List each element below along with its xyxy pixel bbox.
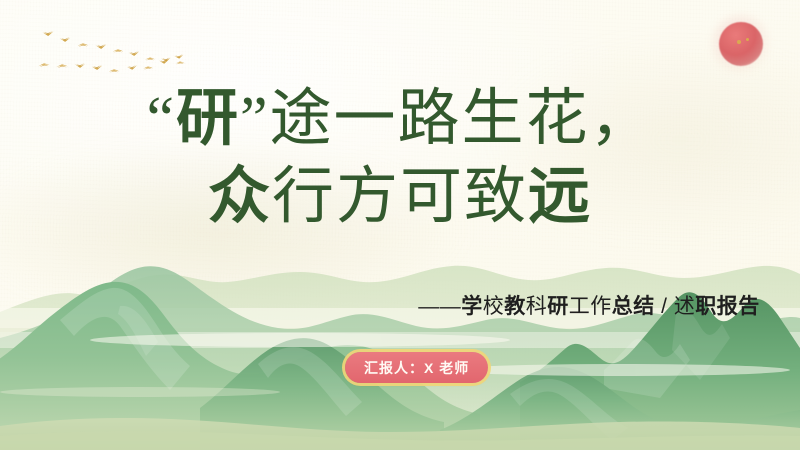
subtitle-seg-xue: 学: [461, 295, 483, 318]
title-quote-open: “: [146, 85, 176, 153]
subtitle-seg-ke: 科: [526, 295, 548, 318]
sun-icon: [719, 22, 763, 66]
mountain-landscape: [0, 220, 800, 450]
title-line-2-mid: 行方可致: [272, 163, 528, 231]
subtitle: ——学校教科研工作总结 / 述职报告: [398, 292, 780, 322]
sun-fleck-a: [737, 40, 741, 44]
presenter-label: 汇报人：X 老师: [364, 358, 469, 378]
title-line-1: “研”途一路生花，: [0, 88, 800, 150]
subtitle-seg-slash: /: [655, 295, 674, 318]
subtitle-seg-shu: 述: [674, 295, 696, 318]
title-block: “研”途一路生花， 众行方可致远: [0, 88, 800, 228]
subtitle-seg-zongjie: 总结: [612, 295, 655, 318]
title-keyword-yan: 研: [176, 85, 240, 153]
subtitle-seg-jiao: 教: [504, 295, 526, 318]
presenter-badge: 汇报人：X 老师: [345, 352, 488, 383]
title-keyword-zhong: 众: [208, 163, 272, 231]
subtitle-seg-gongzuo: 工作: [569, 295, 612, 318]
subtitle-seg-xiao: 校: [483, 295, 505, 318]
title-slide: “研”途一路生花， 众行方可致远 ——学校教科研工作总结 / 述职报告 汇报人：…: [0, 0, 800, 450]
subtitle-dash: ——: [418, 295, 461, 318]
title-keyword-yuan: 远: [528, 163, 592, 231]
title-line-2: 众行方可致远: [0, 166, 800, 228]
subtitle-seg-zhibaogao: 职报告: [695, 295, 760, 318]
subtitle-seg-yan: 研: [547, 295, 569, 318]
sun-fleck-b: [746, 38, 749, 41]
title-line-1-rest: ”途一路生花，: [240, 85, 654, 153]
